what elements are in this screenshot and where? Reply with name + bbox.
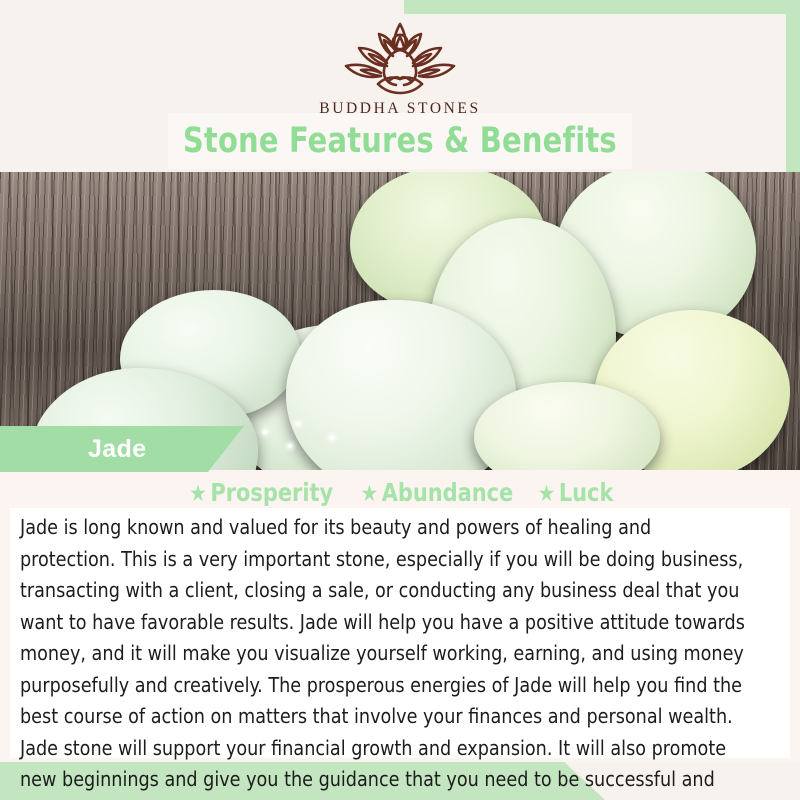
sparkle-icon	[296, 422, 300, 426]
sparkle-icon	[263, 430, 267, 434]
content-panel: ★Prosperity ★Abundance ★Luck Jade is lon…	[0, 470, 800, 762]
benefit-label: Luck	[559, 478, 614, 507]
lotus-meditation-icon	[326, 18, 474, 96]
brand-logo: BUDDHA STONES	[0, 18, 800, 118]
description-panel: Jade is long known and valued for its be…	[10, 508, 790, 758]
benefits-row: ★Prosperity ★Abundance ★Luck	[0, 478, 800, 507]
decor-top-right-band	[404, 0, 800, 14]
page-title: Stone Features & Benefits	[183, 121, 617, 161]
sparkle-icon	[288, 444, 292, 448]
sparkle-icon	[330, 436, 334, 440]
benefit-item: ★Prosperity	[189, 478, 333, 507]
stone-photo	[0, 172, 800, 470]
star-icon: ★	[538, 481, 555, 507]
title-banner: Stone Features & Benefits	[168, 113, 632, 169]
brand-name: BUDDHA STONES	[0, 100, 800, 118]
star-icon: ★	[189, 481, 206, 507]
stone-info-card: BUDDHA STONES Stone Features & Benefits …	[0, 0, 800, 800]
benefit-label: Prosperity	[210, 478, 333, 507]
benefit-item: ★Luck	[538, 478, 614, 507]
benefit-label: Abundance	[381, 478, 513, 507]
star-icon: ★	[360, 481, 377, 507]
description-text: Jade is long known and valued for its be…	[20, 512, 746, 800]
stone-name-badge: Jade	[0, 426, 248, 472]
stone-name: Jade	[88, 435, 147, 464]
benefit-item: ★Abundance	[360, 478, 513, 507]
